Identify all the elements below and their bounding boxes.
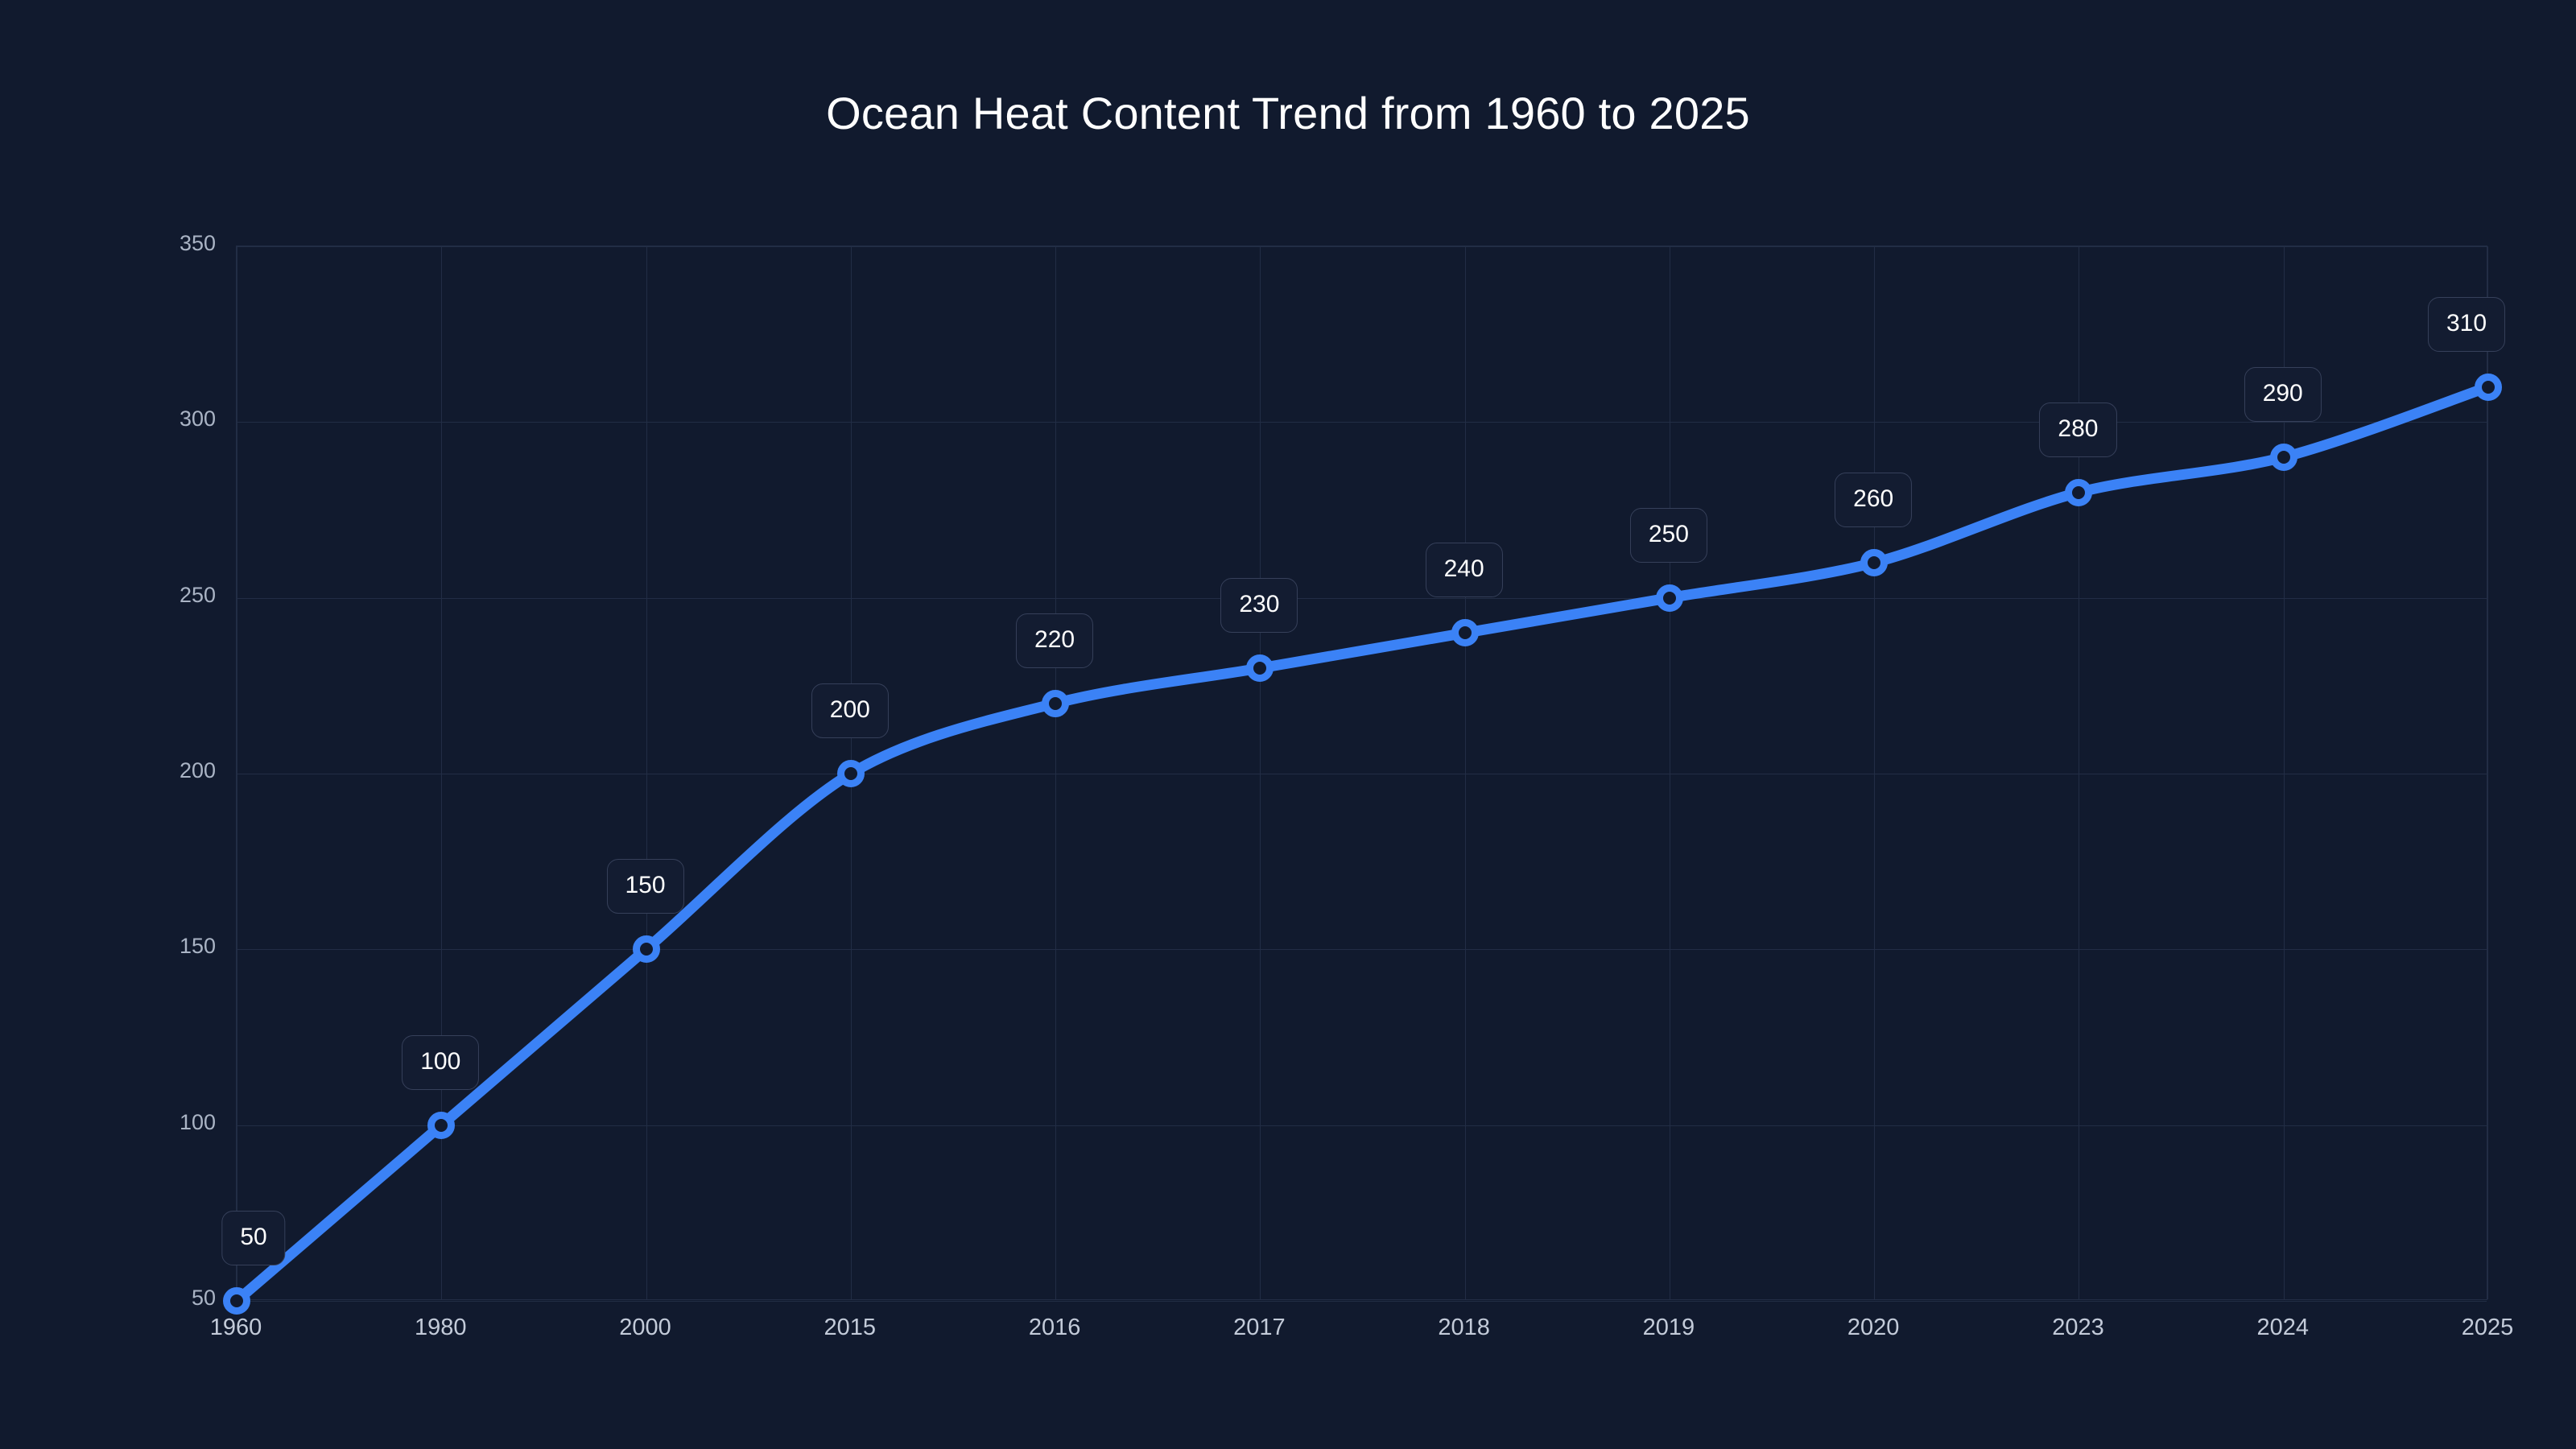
x-axis-tick-label: 2015 — [770, 1315, 931, 1341]
y-axis-tick-label: 250 — [127, 583, 216, 608]
data-point-marker[interactable] — [2270, 444, 2297, 471]
data-point-marker[interactable] — [2065, 479, 2092, 506]
plot-area — [236, 246, 2487, 1300]
data-point-label: 220 — [1016, 613, 1093, 668]
data-point-marker[interactable] — [427, 1112, 455, 1139]
data-point-label: 260 — [1835, 473, 1912, 527]
data-point-label: 240 — [1426, 543, 1503, 597]
data-point-label: 280 — [2039, 402, 2116, 457]
x-axis-tick-label: 2024 — [2202, 1315, 2363, 1341]
data-point-marker[interactable] — [633, 935, 660, 963]
y-axis-tick-label: 100 — [127, 1110, 216, 1135]
chart-page: Ocean Heat Content Trend from 1960 to 20… — [0, 0, 2576, 1449]
y-axis-tick-label: 50 — [127, 1286, 216, 1311]
x-axis-tick-label: 1960 — [155, 1315, 316, 1341]
y-axis-tick-label: 200 — [127, 758, 216, 783]
data-point-marker[interactable] — [1042, 690, 1069, 717]
data-point-marker[interactable] — [223, 1287, 250, 1315]
gridline-horizontal — [237, 1301, 2487, 1302]
y-axis-tick-label: 350 — [127, 231, 216, 256]
data-point-label: 310 — [2428, 297, 2505, 352]
data-point-marker[interactable] — [1656, 584, 1683, 612]
x-axis-tick-label: 1980 — [360, 1315, 521, 1341]
data-point-label: 150 — [607, 859, 684, 914]
y-axis-tick-label: 300 — [127, 407, 216, 431]
x-axis-tick-label: 2025 — [2407, 1315, 2568, 1341]
x-axis-tick-label: 2017 — [1179, 1315, 1340, 1341]
data-point-marker[interactable] — [1860, 549, 1888, 576]
x-axis-tick-label: 2020 — [1793, 1315, 1954, 1341]
data-point-label: 50 — [221, 1211, 285, 1265]
x-axis-tick-label: 2018 — [1384, 1315, 1545, 1341]
data-point-label: 230 — [1220, 578, 1298, 633]
data-point-label: 290 — [2244, 367, 2322, 422]
data-point-marker[interactable] — [2475, 374, 2502, 401]
page-title: Ocean Heat Content Trend from 1960 to 20… — [0, 87, 2576, 139]
data-point-label: 100 — [402, 1035, 479, 1090]
y-axis-title-container: Ocean Heat Content (Zettajoules) — [71, 246, 119, 1300]
data-point-label: 200 — [811, 683, 889, 738]
y-axis-tick-label: 150 — [127, 934, 216, 959]
data-point-marker[interactable] — [1451, 619, 1479, 646]
x-axis-tick-label: 2023 — [1997, 1315, 2158, 1341]
data-point-marker[interactable] — [837, 760, 865, 787]
line-series-svg — [237, 246, 2488, 1301]
data-point-label: 250 — [1630, 508, 1707, 563]
x-axis-tick-label: 2000 — [565, 1315, 726, 1341]
x-axis-tick-label: 2019 — [1588, 1315, 1749, 1341]
x-axis-tick-label: 2016 — [974, 1315, 1135, 1341]
